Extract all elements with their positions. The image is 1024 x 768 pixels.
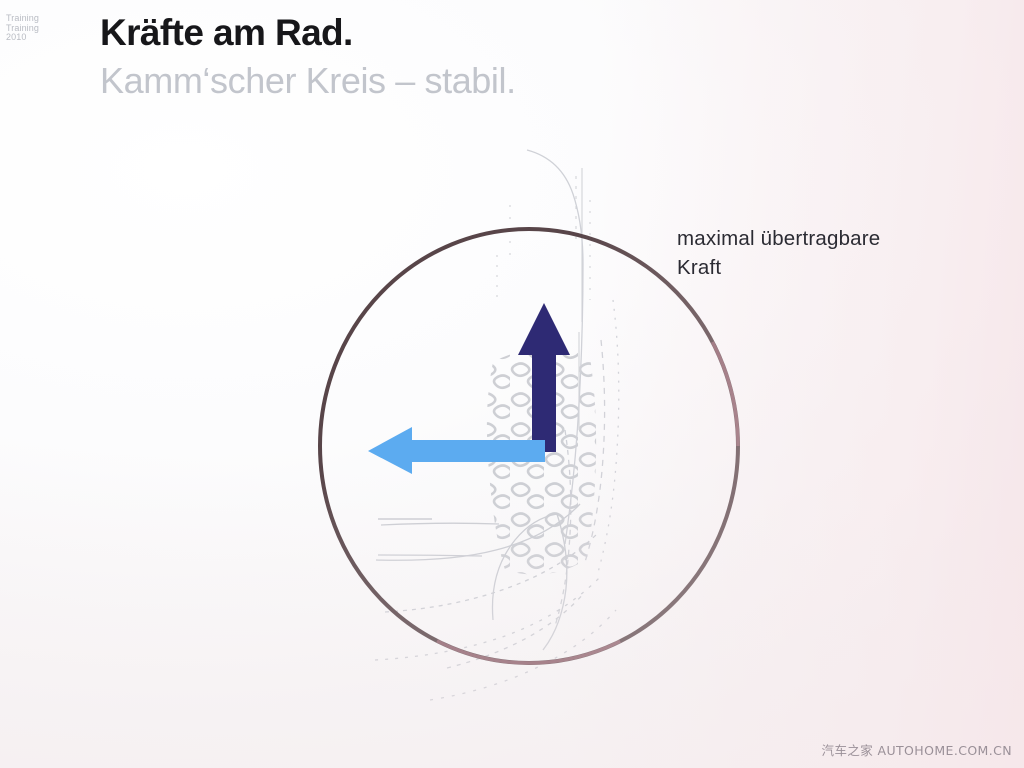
autohome-watermark: 汽车之家 AUTOHOME.COM.CN (822, 740, 1012, 759)
slide-logo: Training Training 2010 (6, 14, 68, 43)
slide: Training Training 2010 Kräfte am Rad. Ka… (0, 0, 1024, 768)
max-transferable-force-label: maximal übertragbare Kraft (677, 224, 880, 282)
background-tyre-sketch (0, 0, 1024, 768)
page-title: Kräfte am Rad. (100, 12, 353, 54)
logo-line-3: 2010 (6, 33, 68, 43)
page-subtitle: Kamm‘scher Kreis – stabil. (100, 60, 516, 102)
